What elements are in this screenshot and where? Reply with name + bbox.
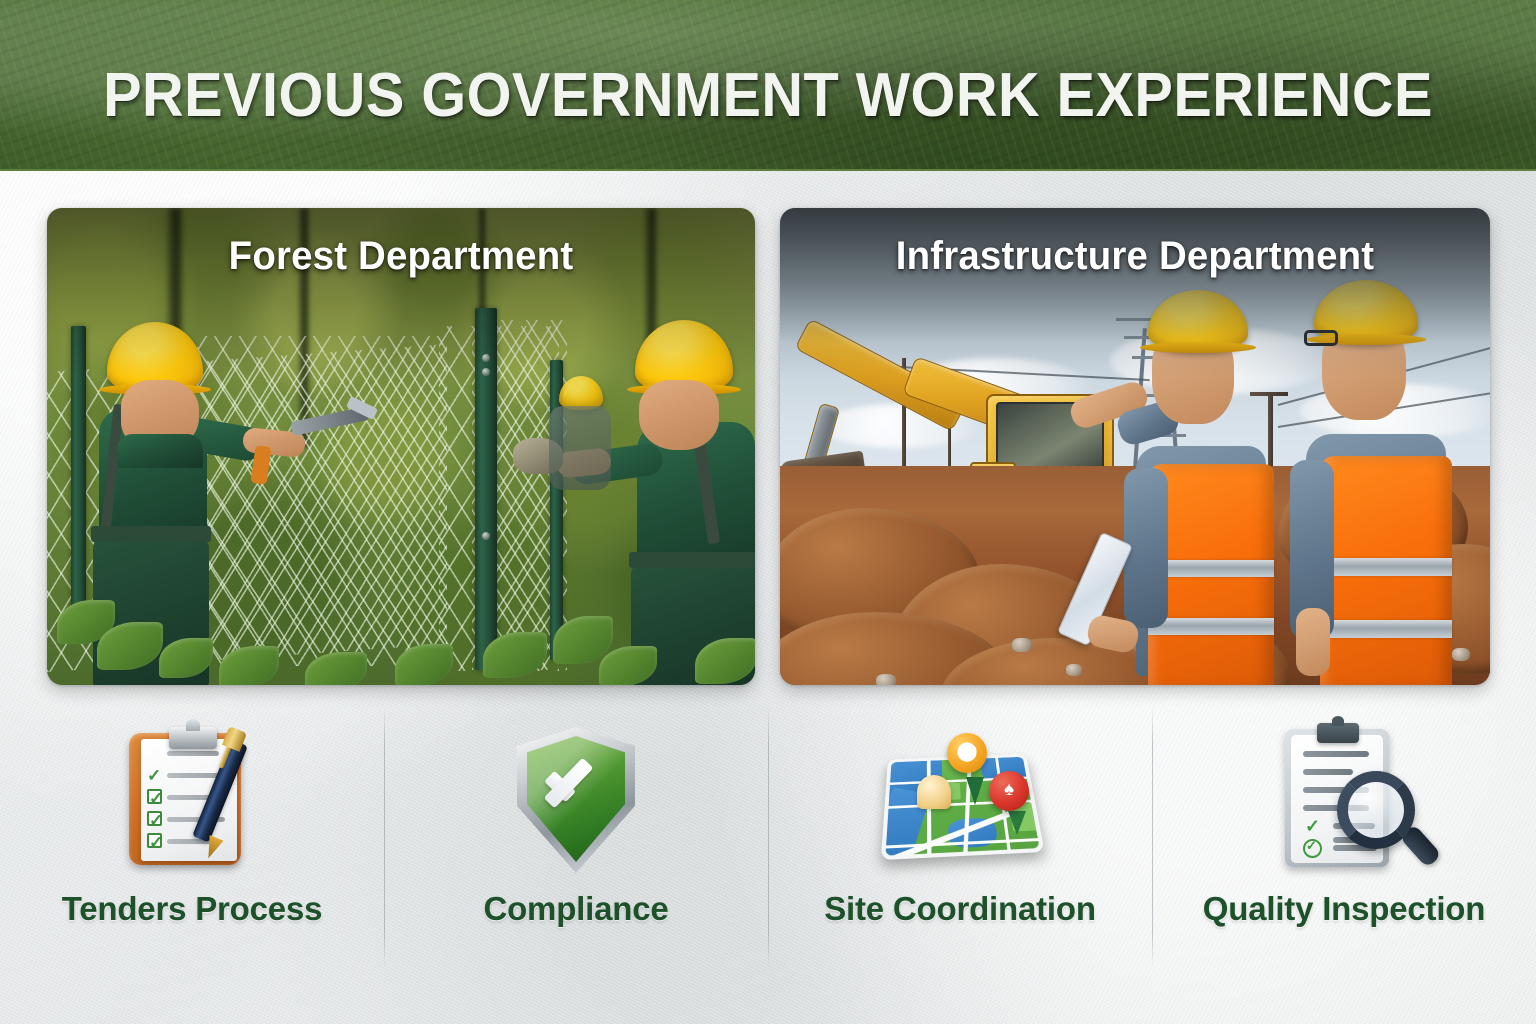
feature-label-quality-inspection: Quality Inspection xyxy=(1203,890,1485,928)
feature-compliance[interactable]: Compliance xyxy=(384,705,768,980)
feature-tenders-process[interactable]: ✓ ✓ ✓ ✓ Tenders Process xyxy=(0,705,384,980)
clipboard-checklist-pen-icon: ✓ ✓ ✓ ✓ xyxy=(107,719,277,884)
infrastructure-department-photo xyxy=(780,208,1490,685)
map-pins-icon: ⬤ ♠ xyxy=(875,719,1045,884)
feature-site-coordination[interactable]: ⬤ ♠ Site Coordination xyxy=(768,705,1152,980)
feature-quality-inspection[interactable]: ✓ ✓ Quality Inspection xyxy=(1152,705,1536,980)
forest-department-title: Forest Department xyxy=(61,234,741,279)
shield-check-icon xyxy=(491,719,661,884)
forest-department-photo xyxy=(47,208,755,685)
infrastructure-department-title: Infrastructure Department xyxy=(794,234,1476,279)
feature-row: ✓ ✓ ✓ ✓ Tenders Process Compliance xyxy=(0,705,1536,980)
feature-label-compliance: Compliance xyxy=(483,890,668,928)
feature-label-site-coordination: Site Coordination xyxy=(824,890,1096,928)
feature-label-tenders-process: Tenders Process xyxy=(62,890,323,928)
photo-card-forest-department[interactable]: Forest Department xyxy=(47,208,755,685)
document-magnifier-icon: ✓ ✓ xyxy=(1259,719,1429,884)
photo-card-infrastructure-department[interactable]: Infrastructure Department xyxy=(780,208,1490,685)
